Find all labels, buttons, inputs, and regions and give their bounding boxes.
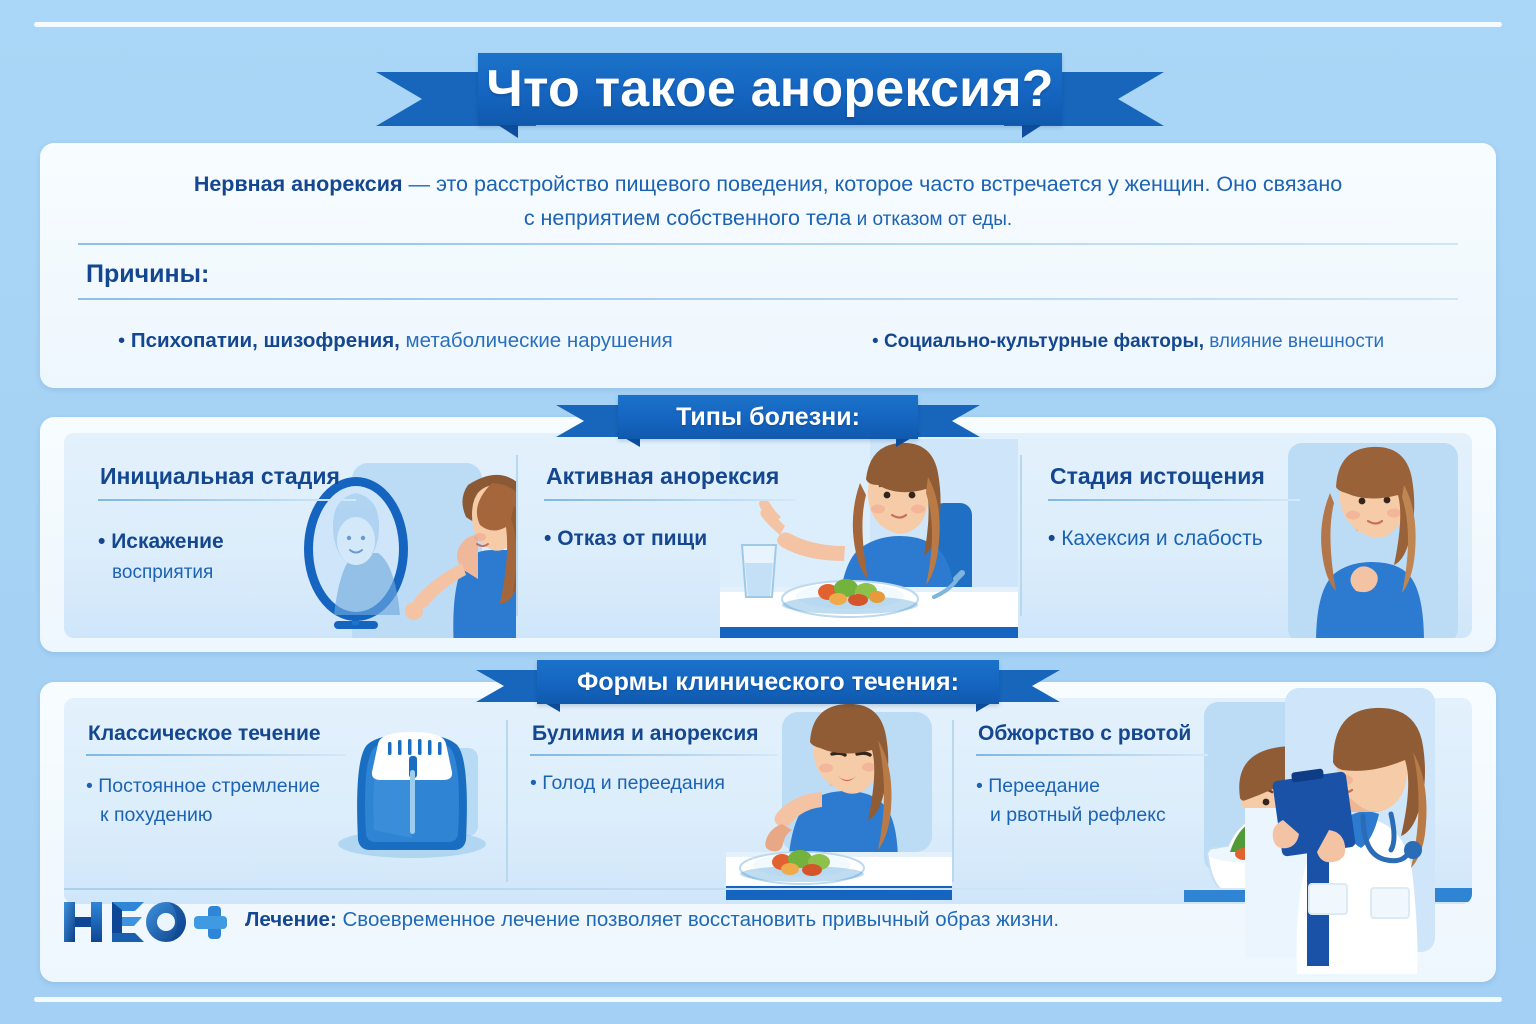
- neo-plus-logo: [62, 896, 227, 948]
- clinical-form-rule-1: [530, 754, 778, 756]
- disease-types-heading: Типы болезни:: [676, 403, 860, 432]
- cause-rest-1: влияние внешности: [1204, 331, 1384, 352]
- cause-bullet-0: •: [118, 329, 125, 352]
- exhausted-woman-illustration: [1270, 443, 1472, 638]
- clinical-form-card-1: Булимия и анорексия • Голод и переедания: [508, 698, 952, 904]
- bottom-rule: [34, 997, 1502, 1002]
- form-bullet-glyph-2: •: [976, 775, 983, 797]
- treatment-label: Лечение:: [245, 908, 337, 931]
- intro-divider-top: [78, 243, 1458, 245]
- woman-vomiting-illustration: [1184, 702, 1472, 902]
- clinical-form-title-2: Обжорство с рвотой: [978, 722, 1191, 746]
- clinical-form-line2-0: к похудению: [86, 804, 213, 826]
- clinical-form-bullet-0: • Постоянное стремление к похудению: [86, 772, 320, 830]
- clinical-form-title-0: Классическое течение: [88, 722, 321, 746]
- disease-type-card-1: Активная анорексия • Отказ от пищи: [518, 433, 1018, 638]
- title-ribbon: Что такое анорексия?: [376, 48, 1164, 138]
- intro-panel: Нервная анорексия — это расстройство пищ…: [40, 143, 1496, 388]
- forms-ribbon-body: Формы клинического течения:: [537, 660, 999, 704]
- clinical-form-bullet-1: • Голод и переедания: [530, 772, 725, 795]
- intro-body-line2-strong: с неприятием собственного тела: [524, 206, 852, 230]
- clinical-forms-strip: Классическое течение • Постоянное стремл…: [64, 698, 1472, 904]
- clinical-form-rule-2: [976, 754, 1208, 756]
- cause-strong-1: Социально-культурные факторы,: [884, 331, 1204, 352]
- footer-divider: [64, 888, 1364, 890]
- form-bullet-glyph-1: •: [530, 772, 537, 794]
- cause-strong-0: Психопатии, шизофрения,: [131, 329, 400, 352]
- cause-item-0: • Психопатии, шизофрения, метаболические…: [118, 329, 673, 353]
- bullet-glyph-0: •: [98, 530, 105, 553]
- clinical-forms-ribbon: Формы клинического течения:: [476, 658, 1060, 710]
- cause-item-1: • Социально-культурные факторы, влияние …: [872, 331, 1384, 353]
- intro-divider-bottom: [78, 298, 1458, 300]
- ribbon-body: Что такое анорексия?: [478, 53, 1062, 125]
- treatment-line: Лечение: Своевременное лечение позволяет…: [245, 908, 1059, 932]
- clinical-form-title-strong-1: Булимия: [532, 722, 625, 745]
- causes-heading: Причины:: [86, 260, 209, 289]
- disease-type-line1-0: Искажение: [111, 530, 224, 553]
- bullet-glyph-2: •: [1048, 527, 1055, 550]
- bathroom-scale-illustration: [334, 712, 506, 862]
- disease-type-bullet-2: • Кахексия и слабость: [1048, 527, 1263, 551]
- intro-body-line2-rest: и отказом от еды.: [851, 209, 1012, 230]
- clinical-form-line1-1: Голод и переедания: [542, 772, 725, 794]
- disease-type-bullet-1: • Отказ от пищи: [544, 527, 707, 551]
- intro-paragraph: Нервная анорексия — это расстройство пищ…: [78, 167, 1458, 237]
- clinical-form-card-0: Классическое течение • Постоянное стремл…: [64, 698, 506, 904]
- disease-type-line1-1: Отказ от пищи: [557, 527, 707, 550]
- disease-type-card-2: Стадия истощения • Кахексия и слабость: [1022, 433, 1472, 638]
- bullet-glyph-1: •: [544, 527, 551, 550]
- infographic-canvas: Что такое анорексия? Нервная анорексия —…: [0, 0, 1536, 1024]
- clinical-form-title-rest-1: и анорексия: [625, 722, 758, 745]
- types-ribbon-body: Типы болезни:: [618, 395, 918, 439]
- clinical-form-line1-2: Переедание: [988, 775, 1100, 797]
- disease-types-panel: Инициальная стадия • Искажение восприяти…: [40, 417, 1496, 652]
- clinical-form-line1-0: Постоянное стремление: [98, 775, 320, 797]
- form-bullet-glyph-0: •: [86, 775, 93, 797]
- cause-bullet-1: •: [872, 331, 879, 352]
- disease-type-rule-2: [1048, 499, 1300, 501]
- clinical-forms-heading: Формы клинического течения:: [577, 668, 959, 697]
- disease-types-ribbon: Типы болезни:: [556, 393, 980, 445]
- treatment-text: Своевременное лечение позволяет восстано…: [337, 908, 1059, 931]
- disease-type-line1-2: Кахексия и слабость: [1061, 527, 1262, 550]
- clinical-forms-panel: Классическое течение • Постоянное стремл…: [40, 682, 1496, 982]
- disease-types-strip: Инициальная стадия • Искажение восприяти…: [64, 433, 1472, 638]
- clinical-form-bullet-2: • Переедание и рвотный рефлекс: [976, 772, 1166, 830]
- intro-dash: —: [403, 172, 436, 196]
- intro-body-line1: это расстройство пищевого поведения, кот…: [436, 172, 1342, 196]
- disease-type-rule-1: [544, 499, 796, 501]
- disease-type-rule-0: [98, 499, 356, 501]
- disease-type-title-0: Инициальная стадия: [100, 463, 340, 490]
- top-rule: [34, 22, 1502, 27]
- clinical-form-title-1: Булимия и анорексия: [532, 722, 759, 746]
- cause-rest-0: метаболические нарушения: [400, 329, 673, 352]
- clinical-form-line2-2: и рвотный рефлекс: [976, 804, 1166, 826]
- disease-type-card-0: Инициальная стадия • Искажение восприяти…: [64, 433, 516, 638]
- clinical-form-rule-0: [86, 754, 346, 756]
- page-title: Что такое анорексия?: [486, 59, 1054, 119]
- disease-type-title-1: Активная анорексия: [546, 463, 779, 490]
- disease-type-bullet-0: • Искажение восприятия: [98, 527, 224, 588]
- disease-type-line2-0: восприятия: [98, 562, 213, 583]
- woman-eating-illustration: [726, 704, 952, 900]
- clinical-form-card-2: Обжорство с рвотой • Переедание и рвотны…: [954, 698, 1472, 904]
- disease-type-title-2: Стадия истощения: [1050, 463, 1265, 490]
- intro-lead: Нервная анорексия: [194, 172, 403, 196]
